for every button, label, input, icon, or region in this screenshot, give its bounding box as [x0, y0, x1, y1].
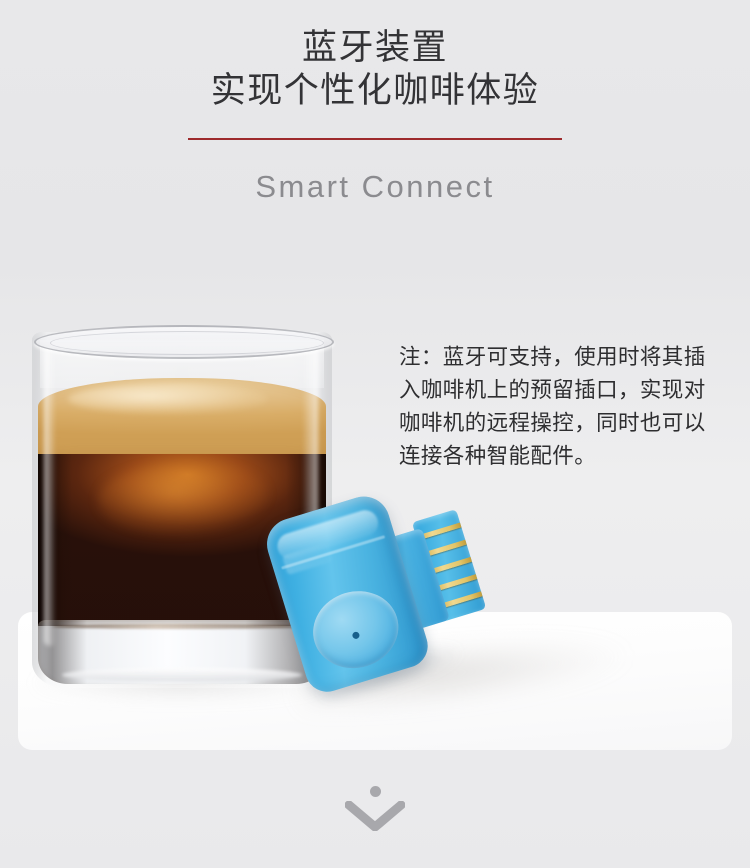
- title-divider: [188, 138, 562, 140]
- dongle-pinhole: [352, 631, 361, 640]
- page-title-line-2: 实现个性化咖啡体验: [0, 69, 750, 112]
- scroll-down-hint[interactable]: [0, 786, 750, 831]
- scroll-hint-dot: [370, 786, 381, 797]
- glass-base: [38, 620, 326, 684]
- coffee-swirl: [98, 464, 268, 534]
- glass-rim-inner: [50, 331, 324, 355]
- crema-sheen: [68, 384, 268, 414]
- glass-base-liquid-line: [52, 624, 312, 629]
- glass-highlight-left: [44, 346, 56, 646]
- page-title: 蓝牙装置 实现个性化咖啡体验: [0, 0, 750, 112]
- page-title-line-1: 蓝牙装置: [0, 26, 750, 69]
- page-header: 蓝牙装置 实现个性化咖啡体验 Smart Connect: [0, 0, 750, 205]
- glass-rim: [34, 325, 334, 359]
- title-divider-wrapper: [0, 138, 750, 140]
- dongle-button: [304, 581, 408, 679]
- glass-base-foot: [62, 668, 302, 682]
- note-text: 注：蓝牙可支持，使用时将其插入咖啡机上的预留插口，实现对咖啡机的远程操控，同时也…: [399, 341, 717, 473]
- page-subtitle: Smart Connect: [0, 169, 750, 205]
- crema-layer: [38, 378, 326, 462]
- product-detail-page: 蓝牙装置 实现个性化咖啡体验 Smart Connect: [0, 0, 750, 868]
- chevron-down-icon[interactable]: [345, 801, 405, 831]
